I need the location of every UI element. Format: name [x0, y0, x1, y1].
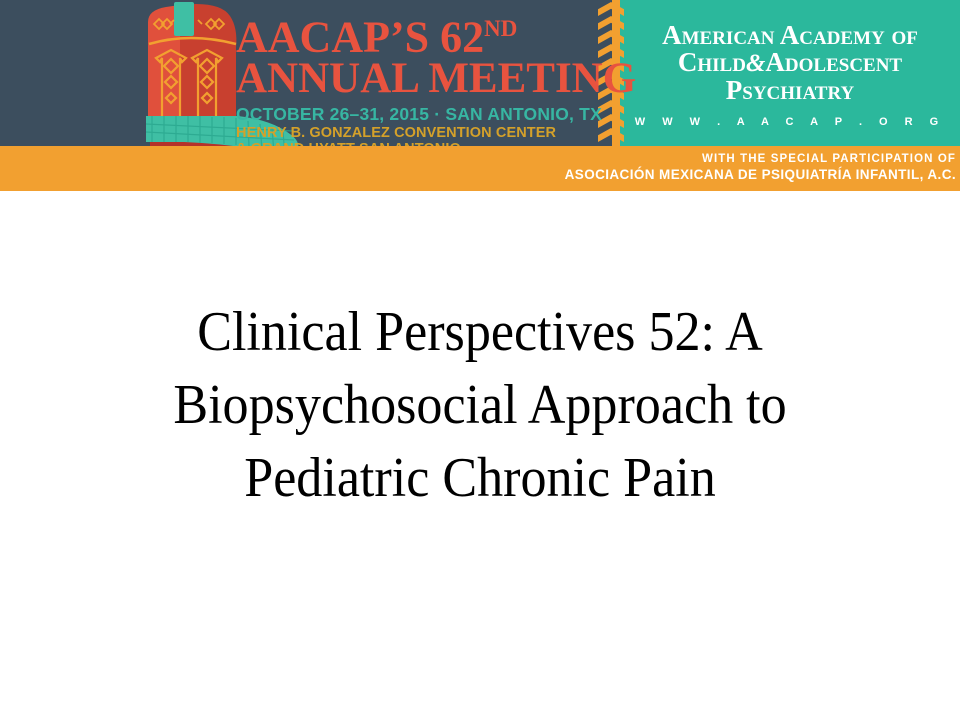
aacap-logo-line3: Psychiatry [624, 77, 956, 104]
meeting-title-ordinal: ND [484, 16, 517, 41]
meeting-venue-line1: HENRY B. GONZALEZ CONVENTION CENTER [236, 125, 606, 141]
slide-title-line1: Clinical Perspectives 52: A [89, 296, 870, 369]
special-participation-block: WITH THE SPECIAL PARTICIPATION OF ASOCIA… [560, 152, 956, 184]
ampersand-glyph: & [746, 50, 765, 77]
aacap-logo-adolescent: Adolescent [765, 47, 902, 77]
aacap-logo-line1: American Academy of [624, 22, 956, 49]
participation-line1: WITH THE SPECIAL PARTICIPATION OF [560, 152, 956, 166]
slide-title-line2: Biopsychosocial Approach to [89, 369, 870, 442]
participation-line2: ASOCIACIÓN MEXICANA DE PSIQUIATRÍA INFAN… [560, 166, 956, 184]
meeting-title-line2: ANNUAL MEETING [236, 58, 606, 99]
meeting-title-block: AACAP’S 62ND ANNUAL MEETING OCTOBER 26–3… [236, 8, 606, 138]
meeting-dates: OCTOBER 26–31, 2015 · SAN ANTONIO, TX [236, 104, 606, 125]
aacap-website-url: W W W . A A C A P . O R G [624, 116, 956, 128]
slide-title: Clinical Perspectives 52: A Biopsychosoc… [89, 296, 870, 515]
aacap-logo-line2: Child&Adolescent [624, 49, 956, 77]
slide-title-line3: Pediatric Chronic Pain [89, 442, 870, 515]
aacap-logo-child: Child [678, 47, 746, 77]
aacap-logo: American Academy of Child&Adolescent Psy… [624, 22, 956, 128]
meeting-title-line1: AACAP’S 62ND [236, 8, 606, 58]
conference-banner: AACAP’S 62ND ANNUAL MEETING OCTOBER 26–3… [0, 0, 960, 191]
